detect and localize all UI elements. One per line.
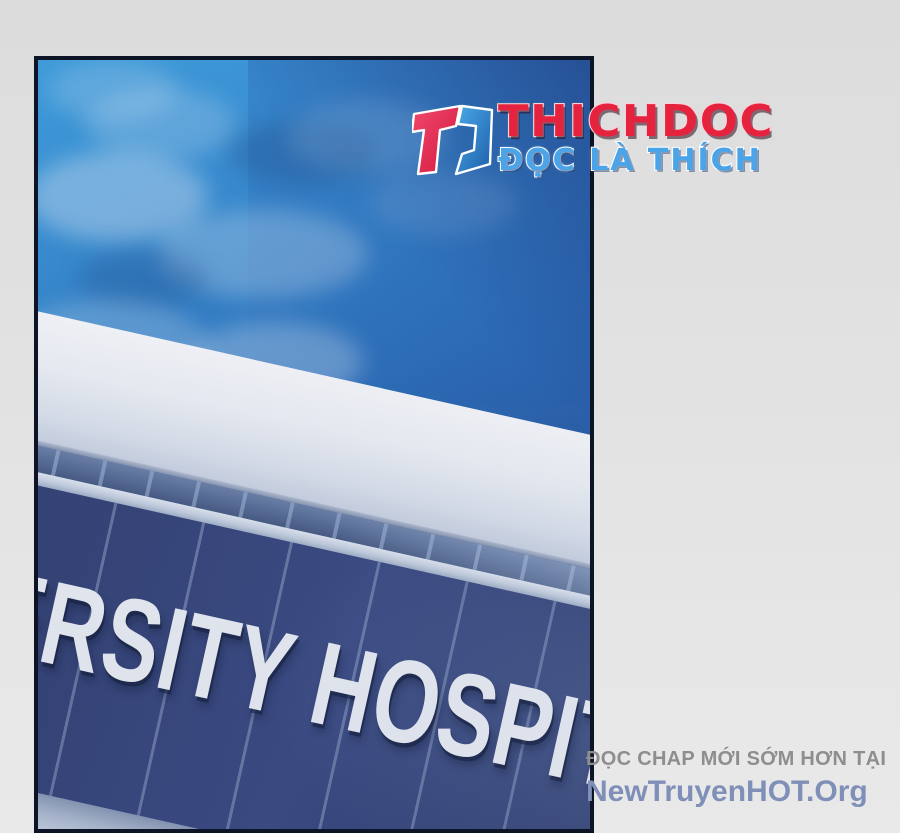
promo-block: ĐỌC CHAP MỚI SỚM HƠN TẠI NewTruyenHOT.Or… xyxy=(586,748,896,809)
cloud-shape xyxy=(86,88,236,160)
promo-site-link[interactable]: NewTruyenHOT.Org xyxy=(586,775,896,809)
promo-tagline: ĐỌC CHAP MỚI SỚM HƠN TẠI xyxy=(586,748,896,771)
watermark-wordmark: THICHDOC ĐỌC LÀ THÍCH xyxy=(498,98,770,178)
site-watermark: THICHDOC ĐỌC LÀ THÍCH xyxy=(412,98,770,190)
watermark-subtitle: ĐỌC LÀ THÍCH xyxy=(498,144,770,178)
td-monogram-logo-icon xyxy=(412,100,498,180)
watermark-title: THICHDOC xyxy=(498,98,775,146)
